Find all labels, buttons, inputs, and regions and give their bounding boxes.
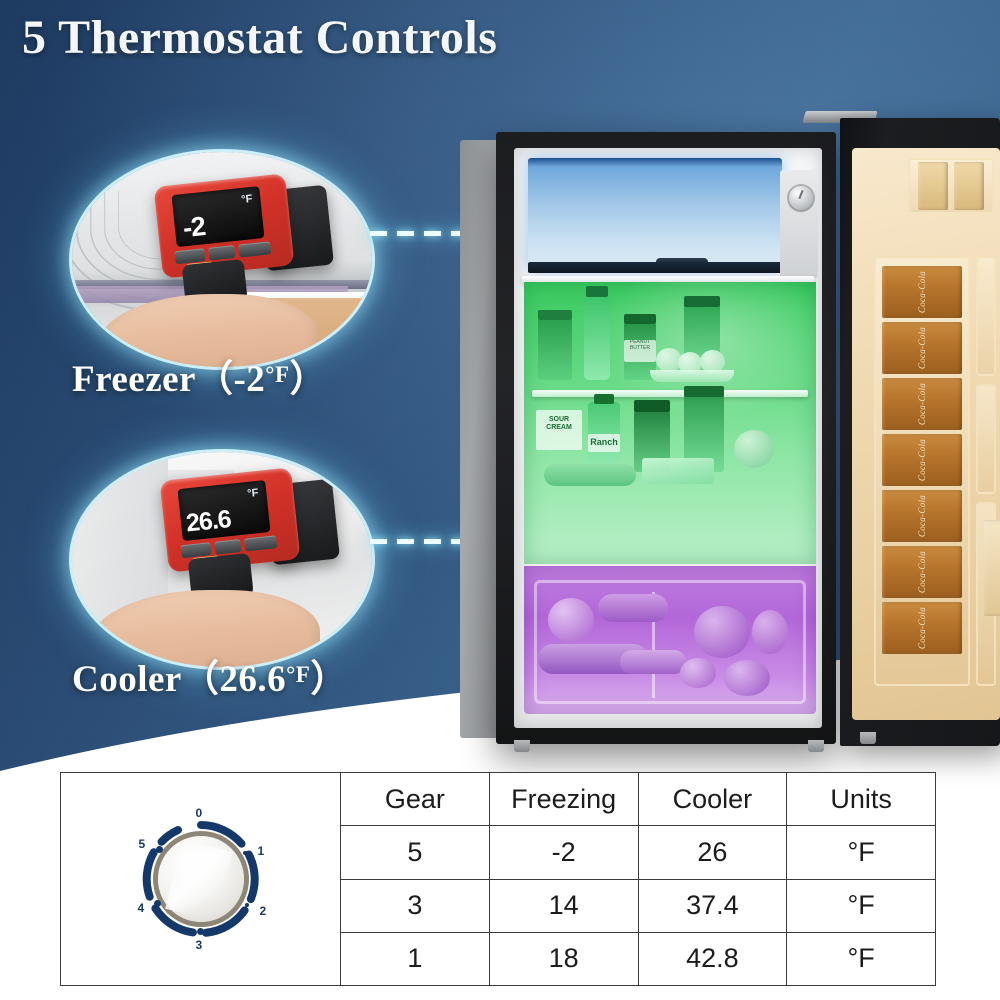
cooler-callout-label: Cooler（26.6°F） [72,648,412,702]
dial-label-2: 2 [260,904,267,918]
soda-can: Coca-Cola [882,378,962,430]
shelf-divider [532,390,808,397]
can-brand-label: Coca-Cola [917,383,927,425]
cell-cooler: 37.4 [638,879,787,932]
apple [734,430,774,468]
freezer-label-name: Freezer [72,359,196,400]
cooler-label-open-paren: （ [182,659,220,700]
dial-label-5: 5 [139,837,146,851]
door-foot [860,732,876,744]
soda-can: Coca-Cola [882,602,962,654]
freezer-photo-oval: °F -2 [72,152,372,367]
can-brand-label: Coca-Cola [917,495,927,537]
table-header-row: 0 1 2 3 4 5 Gear Freezing Cooler Units [61,773,936,826]
door-jar [954,162,984,210]
freezer-label-close-paren: ） [290,359,328,400]
door-jar [918,162,948,210]
soda-can: Coca-Cola [882,546,962,598]
cabinet-interior: PEANUT BUTTER SOUR CREAM Ranch [514,148,822,728]
apple [694,606,750,658]
door-bottle [984,520,1000,616]
cell-gear: 5 [341,826,490,879]
callout-freezer: °F -2 Freezer（-2°F） [72,152,372,367]
dial-dot-2 [245,903,249,907]
cell-freezing: 18 [489,932,638,985]
dial-dot-4 [154,900,161,907]
dial-label-0: 0 [196,806,203,820]
sauce-bottle [584,294,610,380]
gun-reading: 26.6 [185,505,232,539]
jar-lid [634,400,670,412]
cucumber [544,464,636,486]
cell-gear: 3 [341,879,490,932]
table-header-cooler: Cooler [638,773,787,826]
jar-lid [684,296,720,307]
thermostat-spec-table: 0 1 2 3 4 5 Gear Freezing Cooler Units 5… [60,772,936,986]
cell-cooler: 42.8 [638,932,787,985]
bottle-cap [586,286,608,297]
cooler-label-degree: °F [286,662,310,687]
thermostat-dial-graphic[interactable]: 0 1 2 3 4 5 [126,804,276,954]
egg-bowl [650,370,734,382]
door-bin-right-mid [976,384,996,494]
dial-dot-5 [156,846,163,853]
gun-display: °F 26.6 [178,480,271,541]
callout-cooler: °F 26.6 Cooler（26.6°F） [72,452,372,667]
freezer-door-lip [528,262,782,273]
cabinet-foot [808,740,824,752]
table-header-freezing: Freezing [489,773,638,826]
refrigerator-product-photo: PEANUT BUTTER SOUR CREAM Ranch [452,118,1000,758]
can-brand-label: Coca-Cola [917,327,927,369]
cooler-label-close-paren: ） [310,659,348,700]
plum [752,610,788,654]
ranch-label: Ranch [588,434,620,452]
jar-lid [538,310,572,320]
freezer-callout-label: Freezer（-2°F） [72,348,412,402]
cell-units: °F [787,826,936,879]
dial-label-1: 1 [258,844,265,858]
eggplant [598,594,668,622]
gun-reading: -2 [181,211,206,244]
cell-gear: 1 [341,932,490,985]
can-brand-label: Coca-Cola [917,551,927,593]
cell-freezing: -2 [489,826,638,879]
dial-dot-1 [243,851,247,855]
cell-cooler: 26 [638,826,787,879]
freezer-label-degree: °F [265,362,289,387]
crisper-drawer [524,566,816,714]
product-label: PEANUT BUTTER [624,340,656,362]
dial-label-3: 3 [196,938,203,952]
freezer-label-open-paren: （ [196,359,234,400]
freezer-label-value: -2 [233,359,265,400]
cooler-label-name: Cooler [72,659,182,700]
dial-dot-0 [198,822,202,826]
dial-knob[interactable] [158,836,244,922]
can-brand-label: Coca-Cola [917,271,927,313]
soda-can: Coca-Cola [882,266,962,318]
soda-can: Coca-Cola [882,434,962,486]
cell-units: °F [787,932,936,985]
cooler-compartment: PEANUT BUTTER SOUR CREAM Ranch [524,282,816,564]
page-title: 5 Thermostat Controls [22,10,497,65]
onion [548,598,594,642]
soda-can: Coca-Cola [882,490,962,542]
refrigerator-door[interactable]: Coca-Cola Coca-Cola Coca-Cola Coca-Cola … [840,118,1000,746]
cooler-photo-oval: °F 26.6 [72,452,372,667]
gun-unit-label: °F [247,487,259,500]
product-infographic: 5 Thermostat Controls [0,0,1000,1000]
dial-dot-3 [197,928,204,935]
dial-label-4: 4 [138,901,145,915]
table-header-gear: Gear [341,773,490,826]
gun-unit-label: °F [241,193,253,206]
glass-jar [538,318,572,380]
table-header-units: Units [787,773,936,826]
cabinet-foot [514,740,530,752]
jar-lid [684,386,724,397]
can-brand-label: Coca-Cola [917,439,927,481]
plum [680,658,716,688]
jar-lid [624,314,656,324]
cell-freezing: 14 [489,879,638,932]
cooler-label-value: 26.6 [219,659,286,700]
spec-table-wrapper: 0 1 2 3 4 5 Gear Freezing Cooler Units 5… [60,772,936,986]
door-liner: Coca-Cola Coca-Cola Coca-Cola Coca-Cola … [852,148,1000,720]
gun-display: °F -2 [172,186,265,247]
can-brand-label: Coca-Cola [917,607,927,649]
soda-can: Coca-Cola [882,322,962,374]
apple [724,660,770,696]
food-container [642,458,714,484]
door-bin-right-upper [976,256,996,376]
sour-cream-package: SOUR CREAM [536,410,582,450]
bottle-cap [594,394,614,404]
thermostat-dial-cell: 0 1 2 3 4 5 [61,773,341,986]
thermostat-knob[interactable] [789,186,813,210]
freezer-compartment [528,158,782,270]
zucchini [620,650,686,674]
cell-units: °F [787,879,936,932]
